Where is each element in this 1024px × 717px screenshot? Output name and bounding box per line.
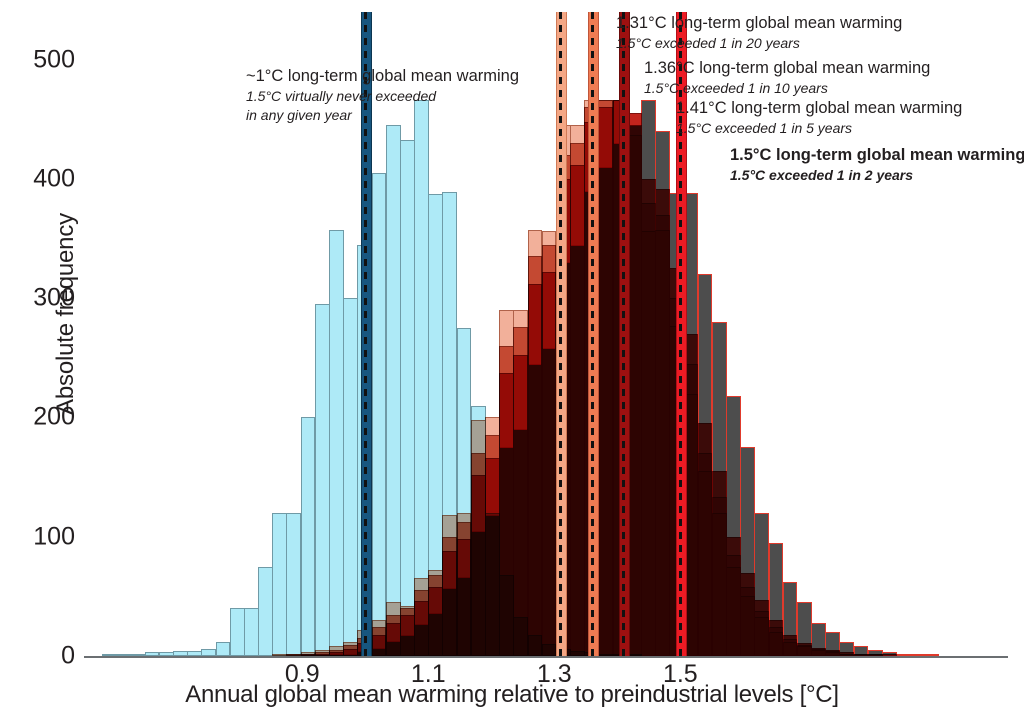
mean-line-131c (556, 12, 565, 656)
histogram-bar (457, 577, 472, 656)
y-tick-label: 100 (5, 522, 75, 551)
annotation-131c-title: 1.31°C long-term global mean warming (616, 13, 902, 34)
histogram-bar (641, 100, 656, 656)
histogram-bar (485, 515, 500, 656)
histogram-bar (769, 543, 784, 656)
annotation-136c: 1.36°C long-term global mean warming 1.5… (644, 58, 930, 98)
mean-line-dash (559, 12, 562, 656)
histogram-bar (655, 131, 670, 656)
mean-line-dash (591, 12, 594, 656)
mean-line-dash (622, 12, 625, 656)
annotation-1c-subtitle: 1.5°C virtually never exceeded (246, 87, 519, 106)
histogram-bar (442, 588, 457, 656)
annotation-15c-title: 1.5°C long-term global mean warming (730, 145, 1024, 166)
y-tick-label: 200 (5, 403, 75, 432)
histogram-bar (499, 447, 514, 656)
histogram-bar (570, 245, 585, 656)
annotation-1c-title: ~1°C long-term global mean warming (246, 66, 519, 87)
histogram-bar (740, 447, 755, 656)
histogram-bar (386, 641, 401, 657)
annotation-1c: ~1°C long-term global mean warming 1.5°C… (246, 66, 519, 125)
annotation-141c: 1.41°C long-term global mean warming 1.5… (676, 98, 962, 138)
histogram-bar (414, 624, 429, 656)
annotation-141c-title: 1.41°C long-term global mean warming (676, 98, 962, 119)
histogram-bar (528, 364, 543, 656)
histogram-bar (428, 613, 443, 656)
histogram-bar (825, 632, 840, 656)
x-axis-title: Annual global mean warming relative to p… (0, 681, 1024, 709)
annotation-131c: 1.31°C long-term global mean warming 1.5… (616, 13, 902, 53)
y-tick-label: 0 (5, 642, 75, 671)
histogram-bar (513, 429, 528, 656)
histogram-bar (400, 635, 415, 656)
chart-figure: Absolute frequency 0100200300400500 0.91… (0, 0, 1024, 717)
histogram-bar (839, 642, 854, 656)
histogram-bar (783, 582, 798, 656)
histogram-bar (542, 348, 557, 656)
mean-line-136c (588, 12, 597, 656)
y-tick-label: 500 (5, 45, 75, 74)
histogram-bar (698, 274, 713, 656)
histogram-bar (471, 531, 486, 656)
annotation-15c-subtitle: 1.5°C exceeded 1 in 2 years (730, 166, 1024, 185)
annotation-136c-title: 1.36°C long-term global mean warming (644, 58, 930, 79)
histogram-bar (797, 602, 812, 656)
histogram-bar (712, 322, 727, 656)
mean-line-141c (619, 12, 628, 656)
histogram-bar (726, 396, 741, 656)
histogram-bar (598, 167, 613, 656)
annotation-141c-subtitle: 1.5°C exceeded 1 in 5 years (676, 119, 962, 138)
y-tick-label: 400 (5, 164, 75, 193)
histogram-bar (811, 623, 826, 656)
histogram-bar (854, 646, 869, 656)
annotation-131c-subtitle: 1.5°C exceeded 1 in 20 years (616, 34, 902, 53)
histogram-bar (754, 513, 769, 656)
x-axis-line (84, 656, 1008, 658)
annotation-1c-subtitle2: in any given year (246, 106, 519, 125)
annotation-15c: 1.5°C long-term global mean warming 1.5°… (730, 145, 1024, 185)
annotation-136c-subtitle: 1.5°C exceeded 1 in 10 years (644, 79, 930, 98)
histogram-bar (372, 648, 387, 656)
y-tick-label: 300 (5, 284, 75, 313)
